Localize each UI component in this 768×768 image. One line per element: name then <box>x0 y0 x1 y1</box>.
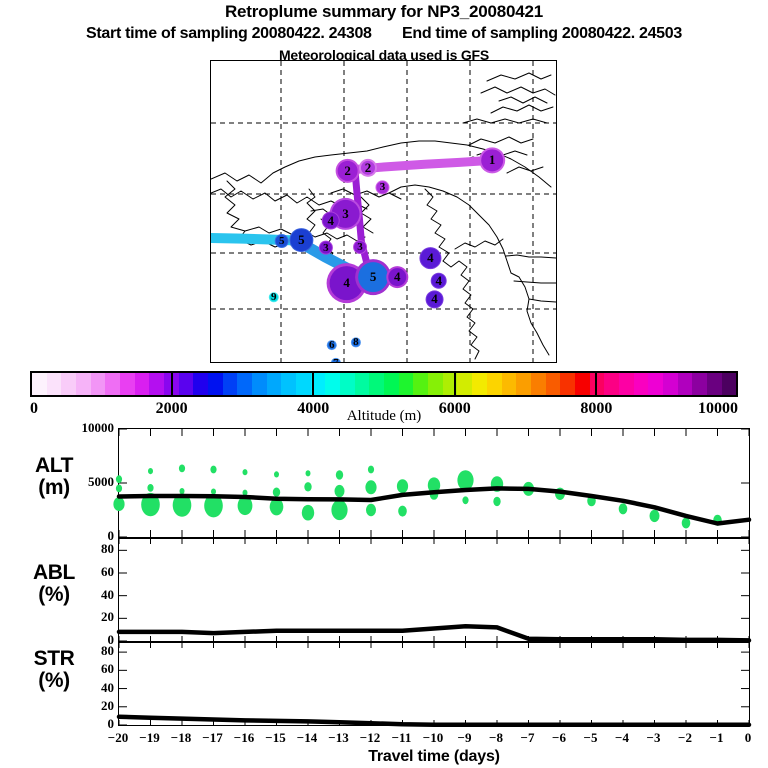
colorbar-swatch-8 <box>149 373 164 395</box>
colorbar-swatch-6 <box>120 373 135 395</box>
y-tick-label-40: 40 <box>101 587 114 603</box>
str-axis-label: STR (%) <box>8 648 100 692</box>
alt-particle-18 <box>306 470 311 476</box>
colorbar-swatch-44 <box>678 373 693 395</box>
str-tick-marks <box>119 643 749 725</box>
colorbar-swatch-43 <box>663 373 678 395</box>
colorbar-swatch-2 <box>61 373 76 395</box>
sampling-time-line: Start time of sampling 20080422. 24308 E… <box>0 25 768 43</box>
x-tick-label--9: −9 <box>458 730 472 746</box>
alt-plot <box>119 429 749 537</box>
colorbar-swatch-21 <box>340 373 355 395</box>
colorbar-swatch-4 <box>91 373 106 395</box>
colorbar-swatch-17 <box>281 373 296 395</box>
abl-tick-marks <box>119 539 749 641</box>
marker-label-5-11: 5 <box>370 269 377 285</box>
colorbar-swatch-15 <box>252 373 267 395</box>
alt-particle-21 <box>336 470 343 479</box>
str-plot <box>119 643 749 725</box>
colorbar-swatch-25 <box>399 373 414 395</box>
altitude-colorbar[interactable]: 0200040006000800010000 <box>30 371 738 397</box>
alt-particle-40 <box>682 518 691 529</box>
colorbar-swatch-22 <box>355 373 370 395</box>
alt-particle-19 <box>304 482 311 491</box>
start-time-label: Start time of sampling 20080422. 24308 <box>86 25 372 42</box>
marker-label-6-17: 6 <box>329 339 335 351</box>
colorbar-swatch-5 <box>105 373 120 395</box>
x-tick-label--14: −14 <box>297 730 317 746</box>
marker-label-4-13: 4 <box>427 250 434 266</box>
alt-axis-label-bottom: (m) <box>8 477 100 499</box>
colorbar-swatch-29 <box>457 373 472 395</box>
alt-axis-label-top: ALT <box>8 455 100 477</box>
abl-axis-label-bottom: (%) <box>8 584 100 606</box>
colorbar-swatch-42 <box>648 373 663 395</box>
x-tick-label--1: −1 <box>710 730 724 746</box>
end-time-label: End time of sampling 20080422. 24503 <box>402 25 682 42</box>
x-tick-label--7: −7 <box>521 730 535 746</box>
colorbar-swatch-47 <box>722 373 737 395</box>
alt-axis-label: ALT (m) <box>8 455 100 499</box>
colorbar-swatch-31 <box>487 373 502 395</box>
y-tick-label-20: 20 <box>101 609 114 625</box>
marker-label-4-15: 4 <box>431 291 438 307</box>
x-tick-label--5: −5 <box>584 730 598 746</box>
alt-particle-7 <box>180 488 185 494</box>
alt-particle-22 <box>335 485 345 497</box>
colorbar-swatch-26 <box>413 373 428 395</box>
colorbar-separator-6000 <box>454 371 456 397</box>
x-tick-label--15: −15 <box>265 730 285 746</box>
marker-label-4-10: 4 <box>343 275 350 291</box>
x-tick-label--6: −6 <box>552 730 566 746</box>
colorbar-swatch-39 <box>604 373 619 395</box>
marker-label-4-5: 4 <box>327 213 334 229</box>
y-tick-label-5000: 5000 <box>88 474 114 490</box>
x-tick-label--16: −16 <box>234 730 254 746</box>
y-tick-label-60: 60 <box>101 564 114 580</box>
x-axis-title: Travel time (days) <box>118 748 750 766</box>
x-tick-label--17: −17 <box>202 730 222 746</box>
marker-label-4-12: 4 <box>394 269 401 285</box>
colorbar-swatch-20 <box>325 373 340 395</box>
x-tick-label--4: −4 <box>615 730 629 746</box>
marker-label-3-3: 3 <box>380 181 386 193</box>
abl-panel[interactable] <box>118 538 750 642</box>
marker-label-5-6: 5 <box>279 235 285 247</box>
alt-particle-31 <box>457 470 473 490</box>
colorbar-separator-2000 <box>171 371 173 397</box>
y-tick-label-10000: 10000 <box>82 420 115 436</box>
alt-particle-24 <box>368 466 374 474</box>
alt-particle-28 <box>398 506 407 517</box>
colorbar-swatch-0 <box>32 373 47 395</box>
colorbar-swatch-30 <box>472 373 487 395</box>
marker-label-3-4: 3 <box>342 206 349 222</box>
str-axis-label-bottom: (%) <box>8 670 100 692</box>
y-tick-label-80: 80 <box>101 541 114 557</box>
x-tick-label--19: −19 <box>139 730 159 746</box>
page-title: Retroplume summary for NP3_20080421 <box>0 2 768 22</box>
x-tick-label--2: −2 <box>678 730 692 746</box>
x-tick-label--10: −10 <box>423 730 443 746</box>
alt-particle-12 <box>243 469 248 475</box>
alt-particle-0 <box>116 475 122 483</box>
marker-label-9-16: 9 <box>271 291 277 303</box>
colorbar-swatch-23 <box>369 373 384 395</box>
alt-particle-10 <box>211 489 216 495</box>
colorbar-swatch-10 <box>179 373 194 395</box>
colorbar-swatch-32 <box>502 373 517 395</box>
alt-particle-3 <box>148 468 153 474</box>
y-tick-label-80: 80 <box>101 643 114 659</box>
marker-label-1-0: 1 <box>489 152 496 168</box>
x-tick-label-0: 0 <box>745 730 752 746</box>
alt-particle-39 <box>650 510 660 522</box>
colorbar-swatch-46 <box>707 373 722 395</box>
colorbar-swatch-12 <box>208 373 223 395</box>
alt-particle-23 <box>331 500 347 520</box>
colorbar-swatch-11 <box>193 373 208 395</box>
colorbar-swatch-36 <box>560 373 575 395</box>
marker-labels: 12233455334544449687 <box>211 61 556 362</box>
x-tick-label--3: −3 <box>647 730 661 746</box>
x-tick-label--8: −8 <box>489 730 503 746</box>
alt-particle-4 <box>147 484 153 492</box>
colorbar-swatch-1 <box>47 373 62 395</box>
colorbar-swatch-18 <box>296 373 311 395</box>
colorbar-separator-8000 <box>595 371 597 397</box>
colorbar-swatch-14 <box>237 373 252 395</box>
retroplume-map[interactable]: 12233455334544449687 <box>210 60 557 363</box>
marker-label-5-7: 5 <box>298 232 305 248</box>
colorbar-swatch-45 <box>692 373 707 395</box>
abl-axis-label: ABL (%) <box>8 562 100 606</box>
y-tick-label-60: 60 <box>101 661 114 677</box>
alt-particle-6 <box>179 465 185 473</box>
abl-plot <box>119 539 749 641</box>
colorbar-separator-4000 <box>312 371 314 397</box>
x-tick-label--13: −13 <box>328 730 348 746</box>
x-tick-label--18: −18 <box>171 730 191 746</box>
altitude-panel[interactable] <box>118 428 750 538</box>
alt-particle-15 <box>274 471 279 477</box>
colorbar-caption: Altitude (m) <box>0 408 768 425</box>
alt-particle-16 <box>273 488 280 497</box>
colorbar-swatch-41 <box>634 373 649 395</box>
colorbar-gradient <box>30 371 738 397</box>
colorbar-swatch-3 <box>76 373 91 395</box>
colorbar-swatch-16 <box>267 373 282 395</box>
str-axis-label-top: STR <box>8 648 100 670</box>
alt-particle-34 <box>493 497 500 506</box>
colorbar-swatch-13 <box>223 373 238 395</box>
marker-label-8-18: 8 <box>353 336 359 348</box>
marker-label-3-8: 3 <box>323 242 329 254</box>
x-tick-label--20: −20 <box>108 730 128 746</box>
alt-particle-38 <box>619 503 628 514</box>
marker-label-3-9: 3 <box>357 241 363 253</box>
marker-label-7-19: 7 <box>333 357 339 363</box>
colorbar-swatch-27 <box>428 373 443 395</box>
colorbar-swatch-34 <box>531 373 546 395</box>
alt-particle-25 <box>365 480 376 494</box>
colorbar-swatch-35 <box>546 373 561 395</box>
x-tick-label--11: −11 <box>392 730 412 746</box>
alt-particle-1 <box>116 485 122 493</box>
alt-particle-32 <box>462 496 468 504</box>
alt-particle-9 <box>210 466 216 474</box>
colorbar-swatch-7 <box>135 373 150 395</box>
marker-label-2-1: 2 <box>344 163 351 179</box>
y-tick-label-40: 40 <box>101 680 114 696</box>
alt-particle-26 <box>366 504 376 516</box>
alt-particle-27 <box>397 479 408 493</box>
colorbar-swatch-24 <box>384 373 399 395</box>
marker-label-2-2: 2 <box>365 160 372 176</box>
str-panel[interactable] <box>118 642 750 726</box>
colorbar-swatch-40 <box>619 373 634 395</box>
alt-particle-2 <box>113 497 124 511</box>
alt-particle-20 <box>302 505 314 521</box>
x-tick-label--12: −12 <box>360 730 380 746</box>
abl-axis-label-top: ABL <box>8 562 100 584</box>
marker-label-4-14: 4 <box>435 273 442 289</box>
colorbar-swatch-37 <box>575 373 590 395</box>
colorbar-swatch-33 <box>516 373 531 395</box>
y-tick-label-20: 20 <box>101 698 114 714</box>
